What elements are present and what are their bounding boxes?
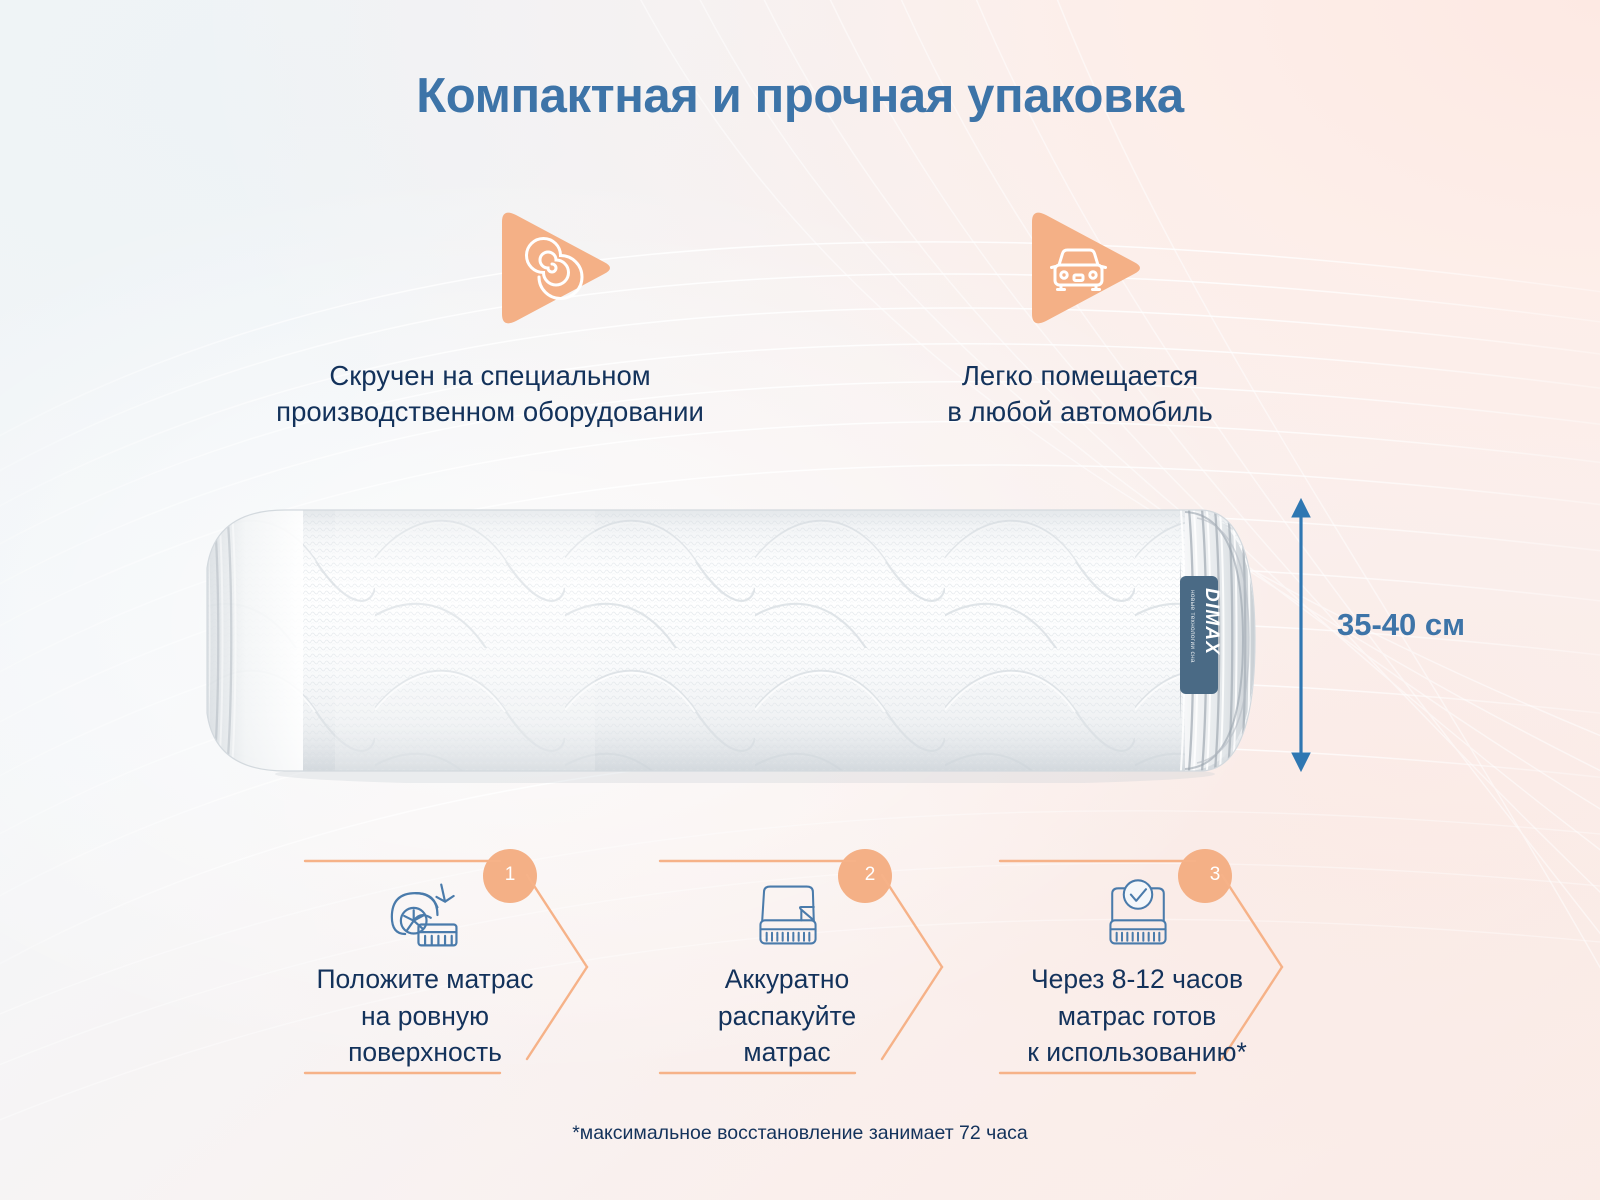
infographic-canvas: Компактная и прочная упаковка Скручен на…: [0, 0, 1600, 1200]
badge-car: [1010, 200, 1150, 336]
unpack-mattress-icon: [618, 875, 958, 955]
double-vertical-arrow-icon: [1292, 499, 1310, 771]
dimax-tag-label: DIMAX: [1201, 588, 1222, 655]
rolled-mattress-image: DIMAX новые технологии сна: [185, 498, 1280, 783]
roll-body: [185, 498, 1280, 783]
step-text: Аккуратно распакуйте матрас: [617, 961, 957, 1071]
feature-block-car: Легко помещается в любой автомобиль: [880, 200, 1280, 431]
mattress-ready-check-icon: [968, 875, 1308, 955]
steps-row: 1 Положите матрас на ровную поверхность: [295, 845, 1305, 1090]
step-card-2: 2 Аккуратно распакуйте матрас: [650, 845, 990, 1090]
badge-spiral: [480, 200, 620, 336]
feature-block-rolled: Скручен на специальном производственном …: [180, 200, 800, 431]
height-dimension: 35-40 см: [1285, 495, 1575, 775]
roll-left-edge-coil: [209, 512, 239, 769]
step-text: Положите матрас на ровную поверхность: [255, 961, 595, 1071]
step-text: Через 8-12 часов матрас готов к использо…: [967, 961, 1307, 1071]
feature-caption: Легко помещается в любой автомобиль: [880, 358, 1280, 431]
dimax-tag: DIMAX новые технологии сна: [1180, 576, 1222, 694]
step-card-3: 3 Через 8-12 часов матрас готов к исполь…: [990, 845, 1330, 1090]
unroll-mattress-icon: [257, 875, 597, 955]
dimax-tag-sub: новые технологии сна: [1189, 590, 1196, 663]
triangle-shape: [1032, 213, 1140, 324]
feature-caption: Скручен на специальном производственном …: [180, 358, 800, 431]
dimension-label: 35-40 см: [1337, 607, 1465, 643]
footnote: *максимальное восстановление занимает 72…: [0, 1122, 1600, 1145]
page-title: Компактная и прочная упаковка: [0, 68, 1600, 124]
step-card-1: 1 Положите матрас на ровную поверхность: [295, 845, 635, 1090]
